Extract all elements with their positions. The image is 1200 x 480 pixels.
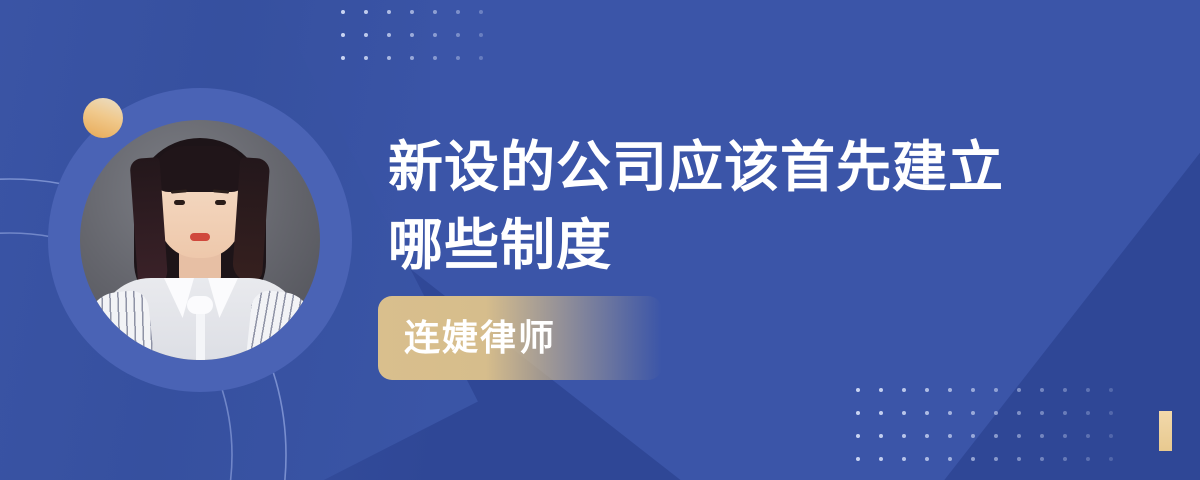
portrait-bow (187, 296, 213, 314)
gold-bar-accent (1159, 411, 1172, 451)
headline-block: 新设的公司应该首先建立 哪些制度 (388, 128, 1088, 284)
portrait-sleeve-right (243, 289, 315, 360)
portrait-sleeve-left (85, 289, 157, 360)
portrait-eye-right (215, 200, 226, 205)
avatar-photo (80, 120, 320, 360)
speaker-badge-label: 连婕律师 (404, 320, 556, 356)
gold-circle-accent (83, 98, 123, 138)
portrait-illustration (80, 120, 320, 360)
legal-qa-banner: 新设的公司应该首先建立 哪些制度 连婕律师 (0, 0, 1200, 480)
portrait-necktie (196, 310, 205, 360)
page-title: 新设的公司应该首先建立 哪些制度 (388, 128, 1088, 284)
portrait-fringe (153, 146, 247, 192)
portrait-eye-left (174, 200, 185, 205)
portrait-lips (190, 233, 210, 241)
speaker-badge: 连婕律师 (378, 296, 662, 380)
